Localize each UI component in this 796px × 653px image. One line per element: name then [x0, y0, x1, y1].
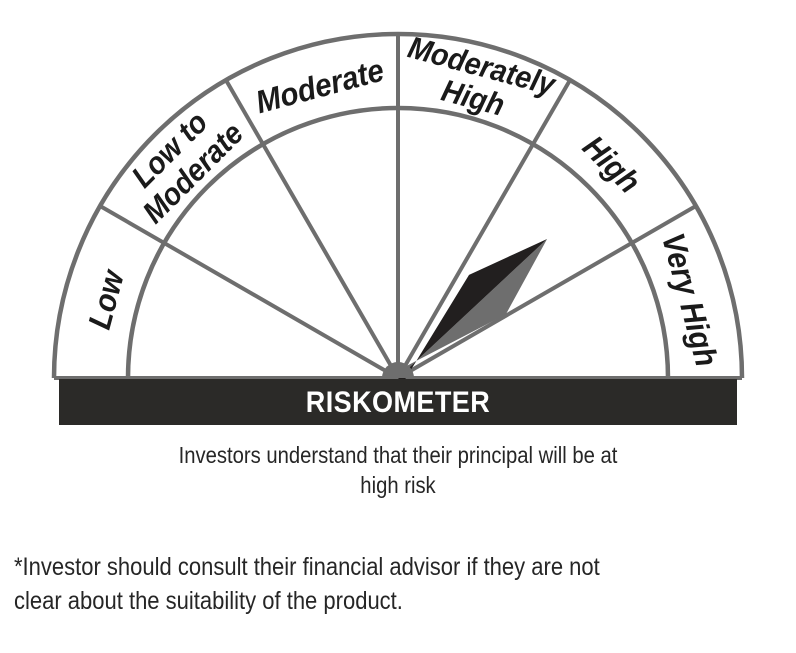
riskometer-gauge: LowLow toModerateModerateModeratelyHighH… — [0, 0, 796, 430]
risk-footnote: *Investor should consult their financial… — [14, 550, 784, 618]
risk-footnote-line-1: *Investor should consult their financial… — [14, 550, 692, 584]
riskometer-title: RISKOMETER — [306, 386, 490, 420]
gauge-divider-low-to-moderate — [100, 206, 398, 378]
gauge-segment-label-text: Low — [81, 265, 132, 333]
gauge-svg: LowLow toModerateModerateModeratelyHighH… — [0, 0, 796, 430]
gauge-segment-label-low-to-moderate: Low toModerate — [113, 93, 250, 230]
gauge-divider-high — [398, 80, 570, 378]
gauge-segment-label-low: Low — [81, 265, 132, 333]
gauge-title-bar: RISKOMETER — [59, 379, 737, 425]
risk-caption: Investors understand that their principa… — [0, 440, 796, 500]
risk-caption-line-1: Investors understand that their principa… — [48, 440, 748, 470]
gauge-divider-very-high — [398, 206, 696, 378]
risk-caption-line-2: high risk — [48, 470, 748, 500]
risk-footnote-line-2: clear about the suitability of the produ… — [14, 584, 692, 618]
gauge-segment-label-text: High — [576, 128, 648, 200]
needle-hub — [382, 362, 414, 378]
riskometer-page: LowLow toModerateModerateModeratelyHighH… — [0, 0, 796, 653]
gauge-label-group: LowLow toModerateModerateModeratelyHighH… — [81, 30, 725, 370]
gauge-divider-moderate — [226, 80, 398, 378]
gauge-segment-label-high: High — [576, 128, 648, 200]
